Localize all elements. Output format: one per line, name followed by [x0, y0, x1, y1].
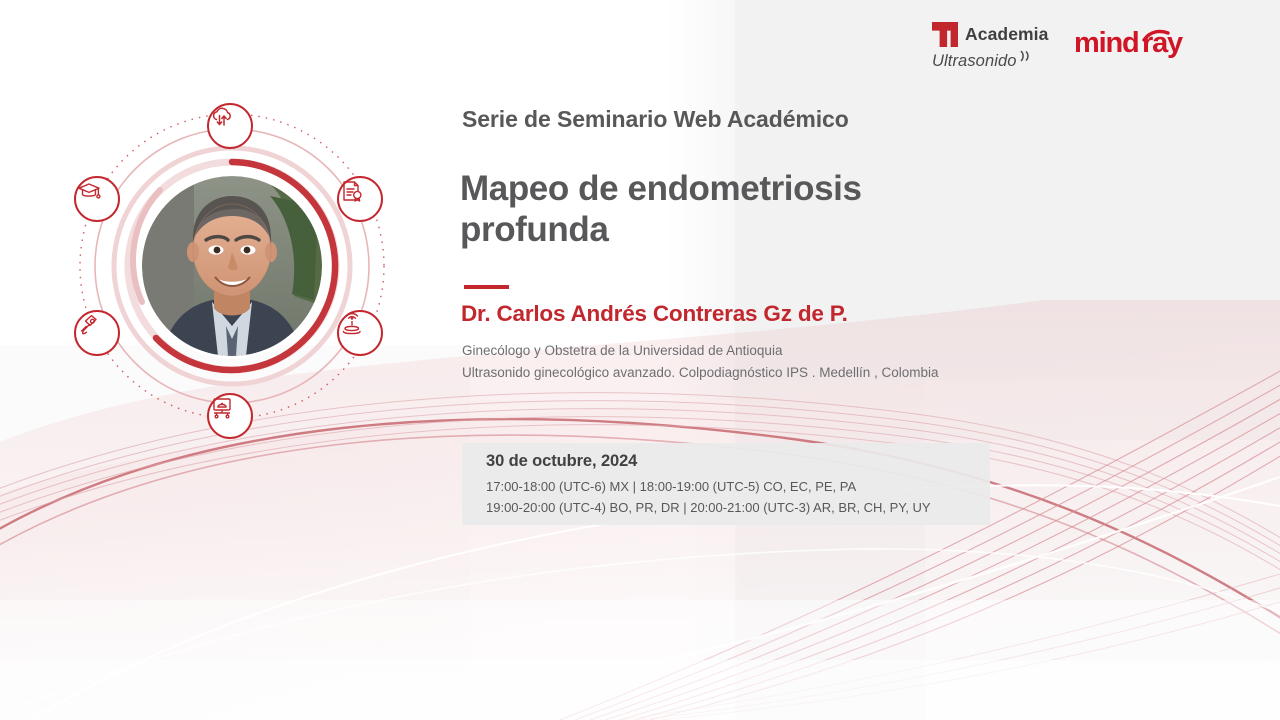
mindray-logo: mind ray — [1074, 27, 1212, 64]
speaker-credentials: Ginecólogo y Obstetra de la Universidad … — [462, 340, 939, 384]
ultrasound-probe-icon — [74, 310, 120, 356]
academia-wordmark: Academia — [965, 26, 1048, 44]
time-line: 19:00-20:00 (UTC-4) BO, PR, DR | 20:00-2… — [486, 497, 931, 518]
m-mark-icon — [932, 22, 958, 47]
cloud-sync-icon — [207, 103, 253, 149]
credential-line: Ultrasonido ginecológico avanzado. Colpo… — [462, 362, 939, 384]
logo-bar: Academia Ultrasonido mind ray — [932, 22, 1212, 69]
speaker-name: Dr. Carlos Andrés Contreras Gz de P. — [461, 301, 848, 327]
certificate-icon — [337, 176, 383, 222]
page-title: Mapeo de endometriosis profunda — [460, 168, 980, 251]
title-rule — [464, 285, 509, 289]
graduation-cap-icon — [74, 176, 120, 222]
speaker-portrait — [142, 176, 322, 356]
credential-line: Ginecólogo y Obstetra de la Universidad … — [462, 340, 939, 362]
event-date: 30 de octubre, 2024 — [486, 452, 931, 471]
schedule-content: 30 de octubre, 2024 17:00-18:00 (UTC-6) … — [486, 452, 931, 518]
ultrasound-cart-icon — [207, 393, 253, 439]
kicker-text: Serie de Seminario Web Académico — [462, 106, 849, 133]
speaker-badge — [60, 90, 410, 450]
time-line: 17:00-18:00 (UTC-6) MX | 18:00-19:00 (UT… — [486, 476, 931, 497]
event-times: 17:00-18:00 (UTC-6) MX | 18:00-19:00 (UT… — [486, 476, 931, 518]
avatar — [142, 176, 322, 356]
webinar-slide: Academia Ultrasonido mind ray — [0, 0, 1280, 720]
ultrasonido-wordmark: Ultrasonido — [932, 53, 1017, 70]
svg-text:mind: mind — [1074, 27, 1138, 59]
academia-ultrasonido-logo: Academia Ultrasonido — [932, 22, 1048, 69]
wireless-probe-icon — [337, 310, 383, 356]
sound-wave-icon — [1019, 48, 1034, 69]
